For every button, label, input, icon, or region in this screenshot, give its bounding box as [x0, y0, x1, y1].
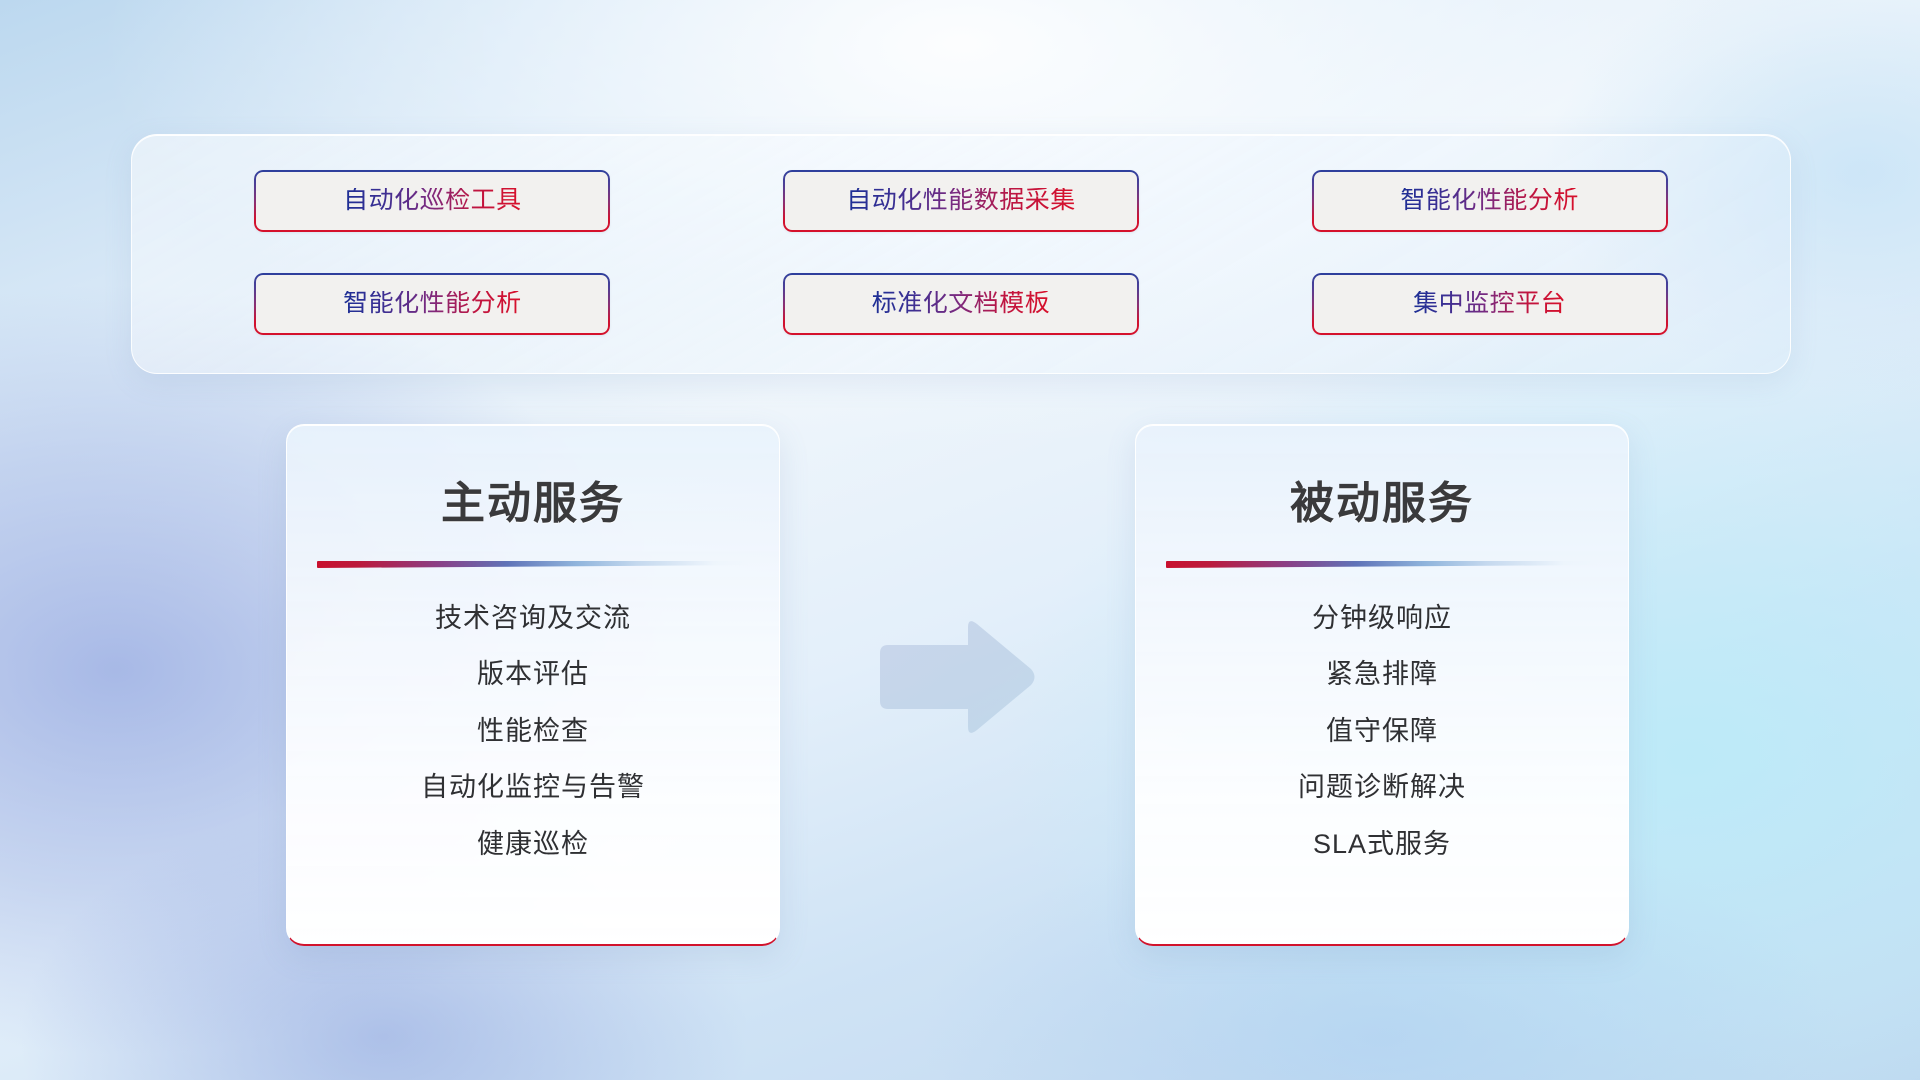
list-item: 自动化监控与告警 [421, 771, 645, 803]
list-item: 健康巡检 [477, 828, 589, 860]
capability-chip-label: 标准化文档模板 [872, 291, 1051, 316]
list-item: 问题诊断解决 [1298, 771, 1466, 803]
reactive-service-list: 分钟级响应 紧急排障 值守保障 问题诊断解决 SLA式服务 [1136, 602, 1628, 860]
list-item: 紧急排障 [1326, 658, 1438, 690]
proactive-service-list: 技术咨询及交流 版本评估 性能检查 自动化监控与告警 健康巡检 [287, 602, 779, 860]
reactive-card-divider [1166, 561, 1598, 568]
list-item: 性能检查 [477, 715, 589, 747]
arrow-right-icon [876, 617, 1038, 737]
proactive-card-title: 主动服务 [287, 467, 779, 531]
capability-chip-automated-inspection-tool[interactable]: 自动化巡检工具 [254, 170, 610, 232]
capability-chip-label: 智能化性能分析 [343, 291, 522, 316]
list-item: 值守保障 [1326, 715, 1438, 747]
proactive-service-card: 主动服务 技术咨询及交流 版本评估 性能检查 自动化监控与告警 健康巡检 [286, 424, 780, 946]
capability-chip-label: 集中监控平台 [1413, 291, 1566, 316]
capability-chip-intelligent-performance-analysis-left[interactable]: 智能化性能分析 [254, 273, 610, 335]
proactive-card-divider [317, 561, 749, 568]
capabilities-panel: 自动化巡检工具 自动化性能数据采集 智能化性能分析 智能化性能分析 标准化文档模… [131, 134, 1791, 374]
capability-chip-automated-performance-data-collection[interactable]: 自动化性能数据采集 [783, 170, 1139, 232]
list-item: 技术咨询及交流 [435, 602, 631, 634]
capability-chip-intelligent-performance-analysis-right[interactable]: 智能化性能分析 [1312, 170, 1668, 232]
capability-chip-standardized-document-template[interactable]: 标准化文档模板 [783, 273, 1139, 335]
reactive-service-card: 被动服务 分钟级响应 紧急排障 值守保障 问题诊断解决 SLA式服务 [1135, 424, 1629, 946]
slide-canvas: 自动化巡检工具 自动化性能数据采集 智能化性能分析 智能化性能分析 标准化文档模… [0, 0, 1920, 1080]
capability-chip-label: 自动化巡检工具 [343, 188, 522, 213]
list-item: SLA式服务 [1313, 828, 1451, 860]
capability-chip-label: 自动化性能数据采集 [846, 188, 1076, 213]
reactive-card-title: 被动服务 [1136, 467, 1628, 531]
capability-chip-centralized-monitoring-platform[interactable]: 集中监控平台 [1312, 273, 1668, 335]
capability-chip-label: 智能化性能分析 [1400, 188, 1579, 213]
list-item: 版本评估 [477, 658, 589, 690]
list-item: 分钟级响应 [1312, 602, 1452, 634]
